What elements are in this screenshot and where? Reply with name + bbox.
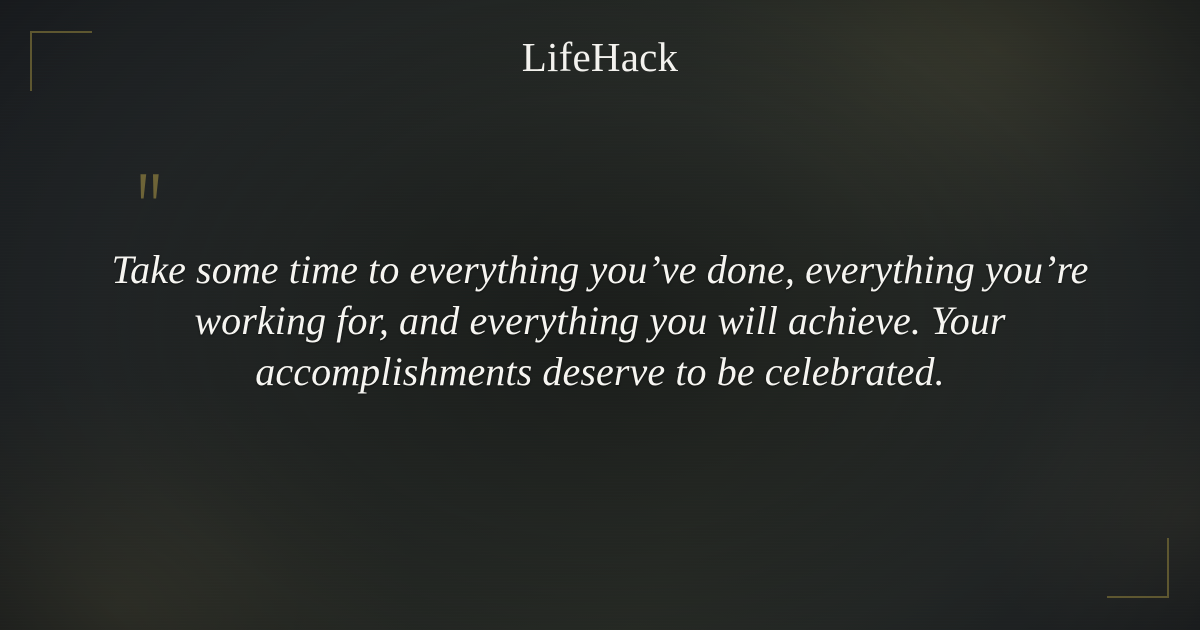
corner-bracket-top-left-horizontal: [30, 31, 92, 33]
quote-card: LifeHack Take some time to everything yo…: [0, 0, 1200, 630]
quote-text: Take some time to everything you’ve done…: [86, 244, 1114, 397]
quotation-mark-icon: [132, 171, 176, 215]
corner-bracket-bottom-right-horizontal: [1107, 596, 1169, 598]
corner-bracket-bottom-right-icon: [1107, 538, 1169, 598]
corner-bracket-bottom-right-vertical: [1167, 538, 1169, 598]
lifehack-logo: LifeHack: [0, 37, 1200, 78]
